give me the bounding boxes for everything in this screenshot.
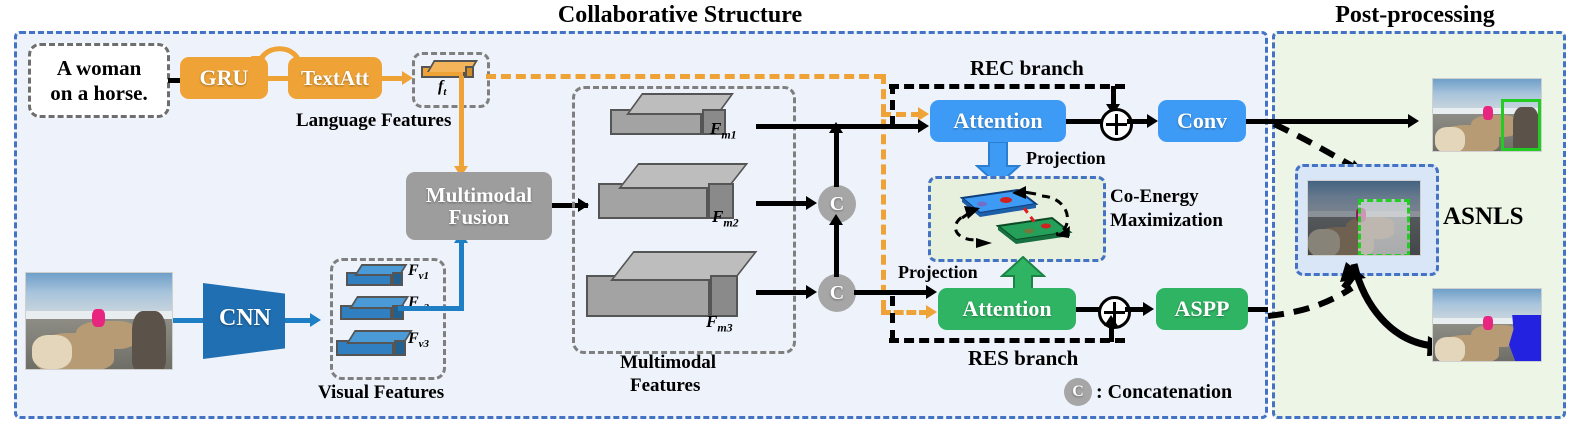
res-skip-arrowhead xyxy=(1104,315,1118,326)
asnls-inset-dashed-box xyxy=(1358,199,1410,256)
fm2-subscript: m2 xyxy=(723,215,738,229)
orange-bus-to-rec xyxy=(881,112,921,117)
concat-node-2: C xyxy=(818,274,856,312)
fm1-bus-arrowhead xyxy=(918,119,929,133)
rec-projection-label: Projection xyxy=(1026,148,1106,169)
res-projection-label: Projection xyxy=(898,262,978,283)
visual-feature-label-1: Fv1 xyxy=(408,262,429,282)
visual-feature-label-2: Fv2 xyxy=(408,294,429,314)
res-output-mane-1 xyxy=(1435,337,1465,362)
aspp-block[interactable]: ASPP xyxy=(1156,288,1248,330)
fm2-to-concat-line xyxy=(756,201,812,206)
visual-features-caption: Visual Features xyxy=(318,382,444,404)
query-line-2: on a horse. xyxy=(50,81,147,106)
visual-feature-label-3: Fv3 xyxy=(408,330,429,350)
multimodal-fusion-block[interactable]: Multimodal Fusion xyxy=(406,172,552,240)
rec-branch-dashed-top xyxy=(889,84,1125,89)
res-output-image xyxy=(1432,288,1542,362)
co-energy-label-line-1: Co-Energy xyxy=(1110,186,1199,208)
visual-feature-slab-3 xyxy=(336,330,406,356)
rec-sum-to-conv-arrowhead xyxy=(1147,114,1158,128)
visual-to-fusion-vline xyxy=(459,240,464,310)
query-text-box: A woman on a horse. xyxy=(28,43,170,118)
res-branch-label: RES branch xyxy=(968,346,1078,371)
visual-feature-slab-2 xyxy=(340,296,404,320)
fv1-subscript: v1 xyxy=(419,270,429,282)
cnn-label: CNN xyxy=(211,305,279,332)
concat2-up-arrowhead xyxy=(829,214,843,225)
concat2-up-line xyxy=(834,221,839,277)
fusion-line-1: Multimodal xyxy=(426,184,532,206)
textatt-block[interactable]: TextAtt xyxy=(288,57,382,99)
multimodal-feature-label-2: Fm2 xyxy=(712,207,739,230)
res-output-segmentation-mask xyxy=(1509,315,1541,362)
orange-bus-horizontal xyxy=(486,74,884,79)
multimodal-feature-label-1: Fm1 xyxy=(710,119,737,142)
concat1-up-arrowhead xyxy=(829,122,843,133)
orange-bus-vertical xyxy=(881,74,886,310)
fv3-subscript: v3 xyxy=(419,338,429,350)
input-image-mane-1 xyxy=(32,335,72,369)
image-to-cnn-line xyxy=(173,318,207,323)
co-energy-planes-illustration xyxy=(932,178,1096,254)
input-image-rider xyxy=(92,309,105,327)
figure-root: Collaborative Structure Post-processing … xyxy=(0,0,1572,423)
concat-legend-icon: C xyxy=(1064,378,1092,406)
res-branch-dashed-bottom xyxy=(889,338,1125,343)
rec-output-mane-1 xyxy=(1435,127,1465,152)
fm3-concat-arrowhead xyxy=(806,285,817,299)
visual-feature-slab-1 xyxy=(346,264,404,286)
fm2-concat-arrowhead xyxy=(806,196,817,210)
fm3-to-concat-line xyxy=(756,290,812,295)
multimodal-feature-slab-1 xyxy=(610,93,726,135)
fm1-symbol: F xyxy=(710,119,721,138)
conv-output-arrowhead xyxy=(1408,114,1419,128)
fm3-subscript: m3 xyxy=(717,320,732,334)
res-output-rider xyxy=(1483,316,1493,330)
concat-legend-symbol: C xyxy=(1072,383,1084,401)
fv3-symbol: F xyxy=(408,330,419,347)
orange-arrow-to-res-attention xyxy=(926,305,937,319)
multimodal-feature-label-3: Fm3 xyxy=(706,312,733,335)
rec-output-bounding-box xyxy=(1501,99,1541,151)
multimodal-features-caption-2: Features xyxy=(630,375,700,397)
multimodal-features-caption-1: Multimodal xyxy=(620,352,716,374)
res-sum-to-aspp-arrowhead xyxy=(1143,302,1154,316)
ft-subscript: t xyxy=(443,86,446,98)
query-line-1: A woman xyxy=(50,56,147,81)
multimodal-feature-slab-3 xyxy=(586,251,738,317)
asnls-label: ASNLS xyxy=(1443,203,1524,231)
title-collaborative-structure: Collaborative Structure xyxy=(480,2,880,29)
concat2-to-res-line xyxy=(854,290,932,295)
input-image xyxy=(25,272,173,370)
input-image-horse-2 xyxy=(76,321,136,349)
cnn-to-visual-line xyxy=(285,318,313,323)
visual-to-fusion-hline xyxy=(398,306,464,311)
orange-bus-to-res xyxy=(881,310,929,315)
res-attention-block[interactable]: Attention xyxy=(938,288,1076,330)
fusion-line-2: Fusion xyxy=(426,206,532,228)
rec-sum-node xyxy=(1100,108,1133,141)
rec-output-image xyxy=(1432,78,1542,152)
concat-node-2-symbol: C xyxy=(830,282,844,305)
co-energy-label-line-2: Maximization xyxy=(1110,210,1223,232)
fm3-symbol: F xyxy=(706,312,717,331)
concat1-up-line xyxy=(834,129,839,187)
rec-branch-label: REC branch xyxy=(970,56,1084,81)
language-feature-slab xyxy=(421,60,473,78)
rec-attention-block[interactable]: Attention xyxy=(930,100,1066,142)
ft-to-fusion-vline xyxy=(459,76,464,168)
language-feature-label: ft xyxy=(438,78,446,98)
fm2-symbol: F xyxy=(712,207,723,226)
aspp-output-line xyxy=(1248,307,1268,312)
input-image-person xyxy=(132,311,166,370)
concat-legend-text: : Concatenation xyxy=(1096,381,1232,404)
fm1-subscript: m1 xyxy=(721,127,736,141)
res-branch-dashed-left xyxy=(890,296,895,340)
concat2-to-res-arrowhead xyxy=(926,285,937,299)
asnls-inset-image xyxy=(1307,180,1421,256)
rec-output-rider xyxy=(1483,106,1493,120)
fv1-symbol: F xyxy=(408,262,419,279)
title-post-processing: Post-processing xyxy=(1290,2,1540,29)
rec-branch-dashed-left xyxy=(890,84,895,126)
conv-block[interactable]: Conv xyxy=(1158,100,1246,142)
language-features-caption: Language Features xyxy=(296,110,451,132)
concat-node-1-symbol: C xyxy=(830,193,844,216)
textatt-to-ft-line xyxy=(380,76,404,81)
cnn-to-visual-arrowhead xyxy=(310,313,321,327)
